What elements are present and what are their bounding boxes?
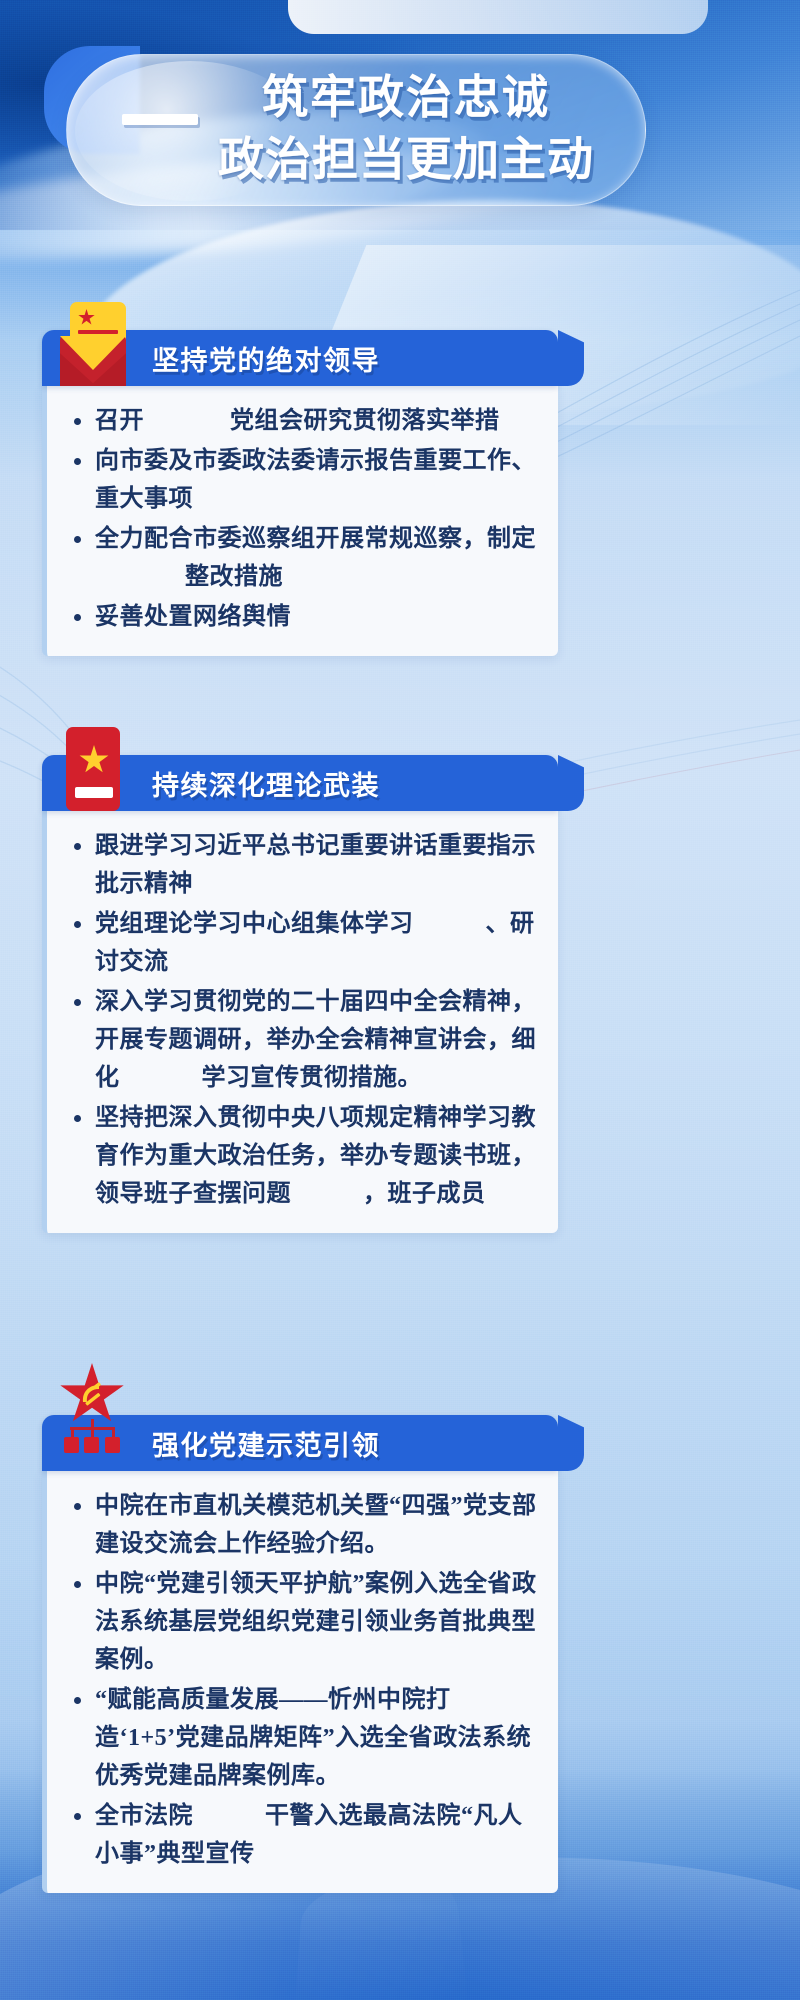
section-3-title: 强化党建示范引领: [152, 1424, 380, 1463]
bullet-text-pre: 妥善处置网络舆情: [95, 604, 291, 630]
list-item: 召开党组会研究贯彻落实举措: [63, 402, 542, 440]
bullet-text-pre: 中院在市直机关模范机关暨“四强”党支部建设交流会上作经验介绍。: [95, 1493, 537, 1557]
bullet-text-post: 整改措施: [185, 564, 283, 590]
page-title-line1: 筑牢政治忠诚: [156, 66, 656, 128]
red-envelope-document-icon: [56, 302, 128, 386]
section-3-bullet-list: 中院在市直机关模范机关暨“四强”党支部建设交流会上作经验介绍。 中院“党建引领天…: [63, 1487, 542, 1873]
hammer-sickle-icon: [78, 1380, 106, 1408]
list-item: 跟进学习习近平总书记重要讲话重要指示批示精神: [63, 827, 542, 903]
bullet-text-pre: 跟进学习习近平总书记重要讲话重要指示批示精神: [95, 833, 536, 897]
list-item: 全力配合市委巡察组开展常规巡察，制定整改措施: [63, 520, 542, 596]
section-1-bullet-list: 召开党组会研究贯彻落实举措 向市委及市委政法委请示报告重要工作、重大事项 全力配…: [63, 402, 542, 636]
bullet-text-post: 学习宣传贯彻措施。: [202, 1065, 423, 1091]
section-party-building-leadership: 强化党建示范引领 中院在市直机关模范机关暨“四强”党支部建设交流会上作经验介绍。…: [42, 1415, 558, 1893]
infographic-poster: 筑牢政治忠诚 政治担当更加主动 坚持党的绝对领导 召开党组会研究贯彻落实举措: [0, 0, 800, 2000]
list-item: 全市法院干警入选最高法院“凡人小事”典型宣传: [63, 1797, 542, 1873]
list-item: 中院在市直机关模范机关暨“四强”党支部建设交流会上作经验介绍。: [63, 1487, 542, 1563]
bullet-text-pre: 党组理论学习中心组集体学习: [95, 911, 414, 937]
bullet-text-post: 党组会研究贯彻落实举措: [230, 408, 500, 434]
bullet-text-pre: 向市委及市委政法委请示报告重要工作、重大事项: [95, 448, 536, 512]
list-item: 坚持把深入贯彻中央八项规定精神学习教育作为重大政治任务，举办专题读书班，领导班子…: [63, 1099, 542, 1213]
list-item: “赋能高质量发展——忻州中院打造‘1+5’党建品牌矩阵”入选全省政法系统优秀党建…: [63, 1681, 542, 1795]
bullet-text-pre: 中院“党建引领天平护航”案例入选全省政法系统基层党组织党建引领业务首批典型案例。: [95, 1571, 537, 1673]
section-3-body: 中院在市直机关模范机关暨“四强”党支部建设交流会上作经验介绍。 中院“党建引领天…: [42, 1471, 558, 1893]
section-dangs-absolute-leadership: 坚持党的绝对领导 召开党组会研究贯彻落实举措 向市委及市委政法委请示报告重要工作…: [42, 330, 558, 656]
section-2-body: 跟进学习习近平总书记重要讲话重要指示批示精神 党组理论学习中心组集体学习、研讨交…: [42, 811, 558, 1233]
list-item: 中院“党建引领天平护航”案例入选全省政法系统基层党组织党建引领业务首批典型案例。: [63, 1565, 542, 1679]
section-1-body: 召开党组会研究贯彻落实举措 向市委及市委政法委请示报告重要工作、重大事项 全力配…: [42, 386, 558, 656]
list-item: 党组理论学习中心组集体学习、研讨交流: [63, 905, 542, 981]
section-2-title: 持续深化理论武装: [152, 764, 380, 803]
list-item: 深入学习贯彻党的二十届四中全会精神，开展专题调研，举办全会精神宣讲会，细化学习宣…: [63, 983, 542, 1097]
bullet-text-pre: 全市法院: [95, 1803, 193, 1829]
list-item: 妥善处置网络舆情: [63, 598, 542, 636]
bullet-text-pre: “赋能高质量发展——忻州中院打造‘1+5’党建品牌矩阵”入选全省政法系统优秀党建…: [95, 1687, 531, 1789]
section-1-title: 坚持党的绝对领导: [152, 339, 380, 378]
bg-top-pill-shape: [288, 0, 708, 34]
page-title-line2: 政治担当更加主动: [156, 128, 656, 190]
section-theoretical-armament: 持续深化理论武装 跟进学习习近平总书记重要讲话重要指示批示精神 党组理论学习中心…: [42, 755, 558, 1233]
list-item: 向市委及市委政法委请示报告重要工作、重大事项: [63, 442, 542, 518]
page-title: 筑牢政治忠诚 政治担当更加主动: [156, 66, 656, 190]
party-emblem-star-hammer-sickle-icon: [56, 1363, 128, 1447]
bullet-text-pre: 召开: [95, 408, 144, 434]
red-book-star-icon: [56, 727, 128, 811]
poster-header: 筑牢政治忠诚 政治担当更加主动: [48, 52, 648, 212]
bullet-text-pre: 全力配合市委巡察组开展常规巡察，制定: [95, 526, 536, 552]
bullet-text-post: ，班子成员: [363, 1181, 486, 1207]
section-2-bullet-list: 跟进学习习近平总书记重要讲话重要指示批示精神 党组理论学习中心组集体学习、研讨交…: [63, 827, 542, 1213]
